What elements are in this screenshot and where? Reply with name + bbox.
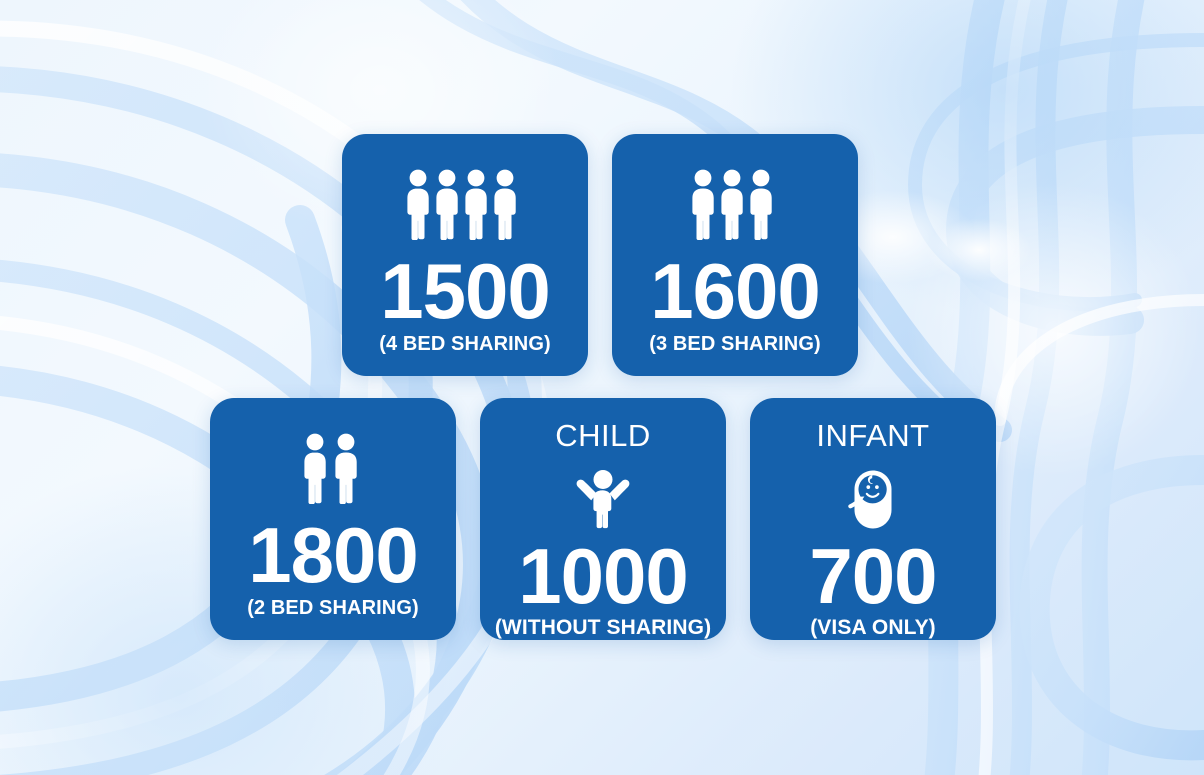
infant-swaddled-icon xyxy=(848,465,898,531)
cloud-puff-small-icon xyxy=(904,205,1054,295)
four-people-icon-svg xyxy=(405,168,525,240)
card-amount: 700 xyxy=(809,541,936,613)
card-note: (WITHOUT SHARING) xyxy=(495,617,711,638)
card-amount: 1000 xyxy=(518,541,688,613)
child-icon-svg xyxy=(572,467,634,531)
price-card-3-bed-sharing[interactable]: 1600 (3 BED SHARING) xyxy=(612,134,858,376)
wave-lines-svg xyxy=(0,0,1204,775)
child-icon xyxy=(572,465,634,531)
price-card-2-bed-sharing[interactable]: 1800 (2 BED SHARING) xyxy=(210,398,456,640)
card-note: (VISA ONLY) xyxy=(810,617,936,638)
card-amount: 1500 xyxy=(380,256,550,328)
price-card-4-bed-sharing[interactable]: 1500 (4 BED SHARING) xyxy=(342,134,588,376)
card-amount: 1600 xyxy=(650,256,820,328)
three-people-icon-svg xyxy=(690,168,781,240)
three-people-icon xyxy=(690,168,781,240)
four-people-icon xyxy=(405,168,525,240)
card-heading: CHILD xyxy=(555,420,651,451)
price-card-child[interactable]: CHILD 1000 (WITHOUT SHARING) xyxy=(480,398,726,640)
card-amount: 1800 xyxy=(248,520,418,592)
infant-swaddled-icon-svg xyxy=(848,469,898,531)
pricing-tiers-graphic: 1500 (4 BED SHARING) 1600 ( xyxy=(0,0,1204,775)
price-card-infant[interactable]: INFANT 700 (VISA ONLY) xyxy=(750,398,996,640)
card-note: (3 BED SHARING) xyxy=(649,334,821,354)
background-wave-pattern xyxy=(0,0,1204,775)
card-note: (2 BED SHARING) xyxy=(247,598,419,618)
two-people-icon-svg xyxy=(302,432,364,504)
card-note: (4 BED SHARING) xyxy=(379,334,551,354)
card-heading: INFANT xyxy=(816,420,929,451)
two-people-icon xyxy=(302,432,364,504)
